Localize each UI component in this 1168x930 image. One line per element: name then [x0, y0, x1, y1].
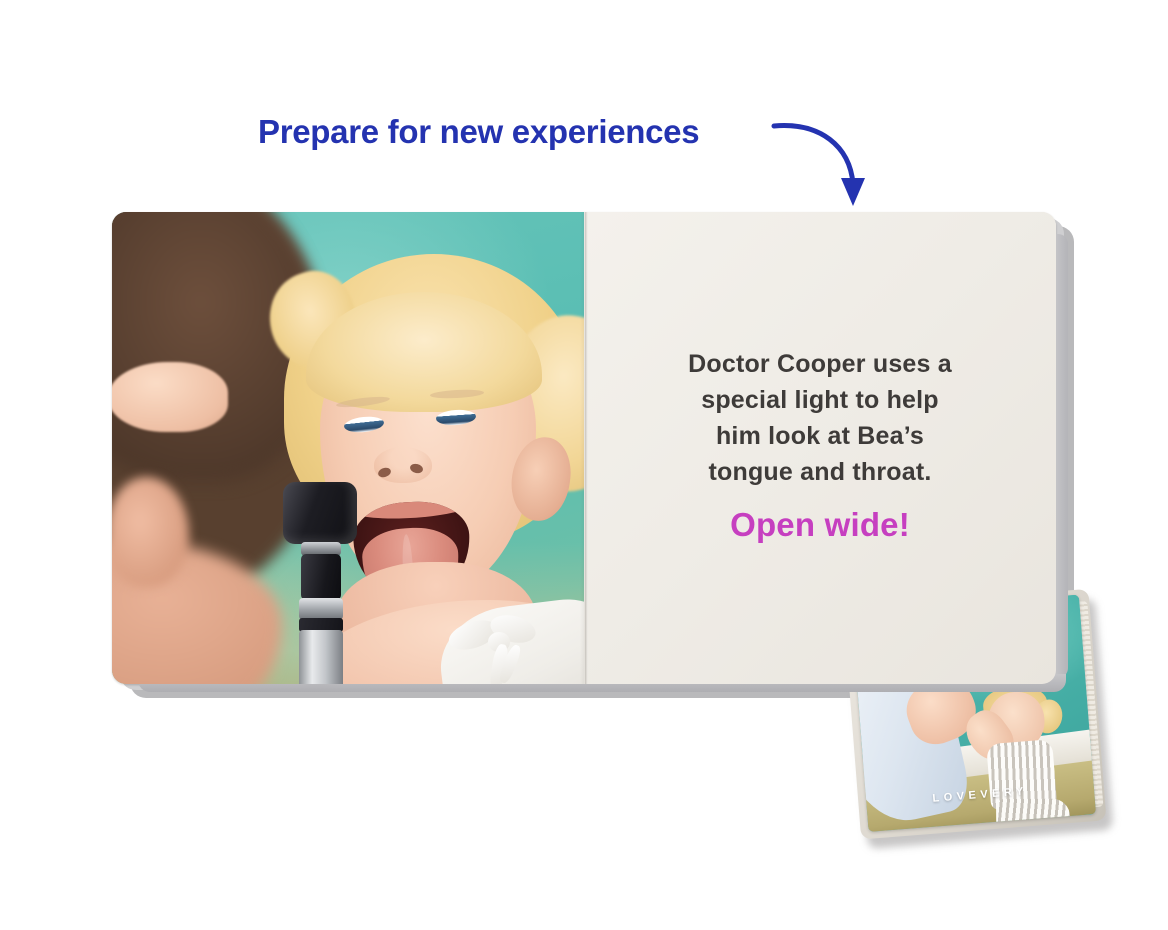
otoscope-handle — [299, 630, 343, 684]
book-text-highlight: Open wide! — [584, 506, 1056, 544]
cover-child — [970, 688, 1076, 831]
curved-down-arrow-icon — [768, 110, 888, 220]
otoscope-instrument — [277, 482, 363, 684]
book-text-line-3: him look at Bea’s — [584, 418, 1056, 454]
child-nose — [374, 447, 432, 483]
book-gutter-line — [585, 212, 588, 684]
page-title: Prepare for new experiences — [258, 113, 699, 151]
dress-bow — [448, 614, 544, 668]
book-text-block: Doctor Cooper uses a special light to he… — [584, 346, 1056, 544]
book-text-line-4: tongue and throat. — [584, 454, 1056, 490]
book-text-line-1: Doctor Cooper uses a — [584, 346, 1056, 382]
promo-canvas: Prepare for new experiences — [0, 0, 1168, 930]
otoscope-neck — [301, 554, 341, 600]
otoscope-ring-mid — [299, 598, 343, 620]
open-board-book: Doctor Cooper uses a special light to he… — [112, 212, 1056, 684]
otoscope-head — [283, 482, 357, 544]
doctor-hand — [112, 362, 228, 432]
book-text-line-2: special light to help — [584, 382, 1056, 418]
book-right-text-page: Doctor Cooper uses a special light to he… — [584, 212, 1056, 684]
book-spread: Doctor Cooper uses a special light to he… — [112, 212, 1056, 684]
